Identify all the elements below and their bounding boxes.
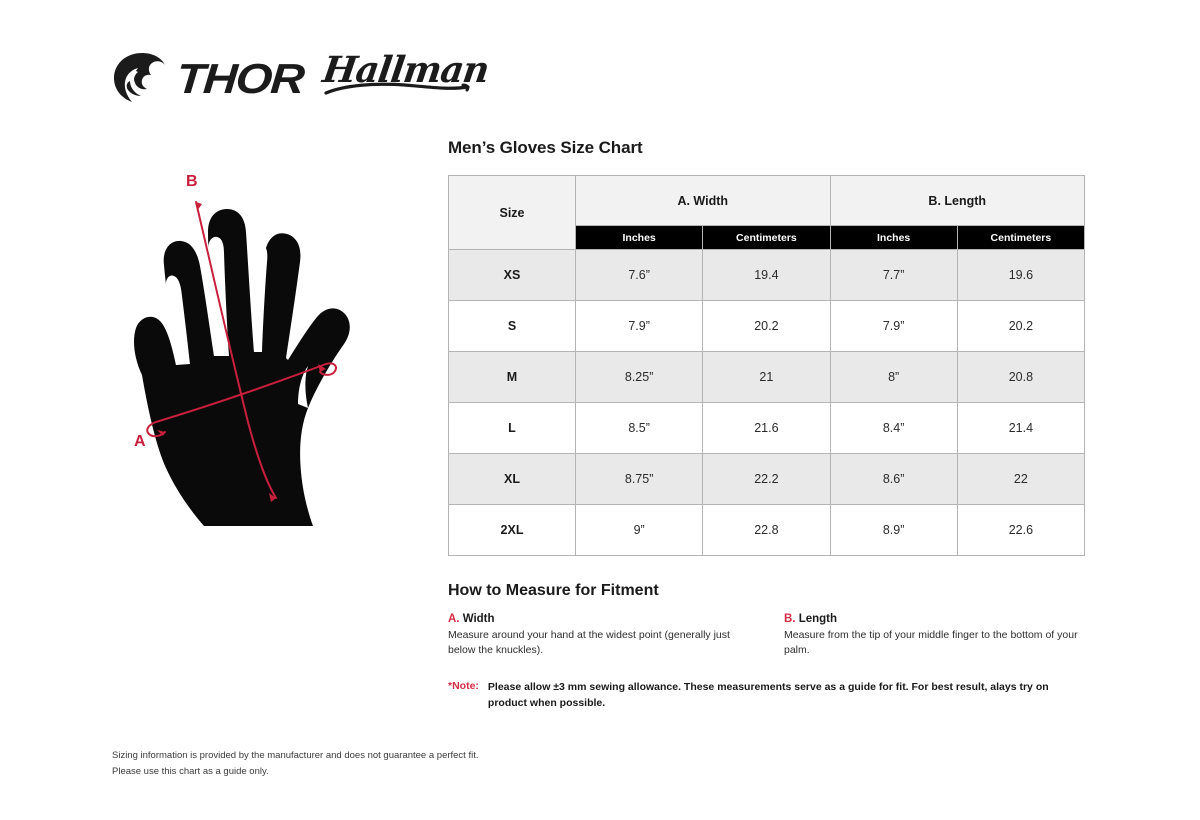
measure-name-length: Length [799,613,837,625]
column-header-size: Size [449,176,576,250]
cell-length-inches: 7.9” [830,301,957,352]
cell-length-inches: 8” [830,352,957,403]
measure-letter-a: A. [448,613,460,625]
measure-item-length: B. Length Measure from the tip of your m… [784,613,1086,658]
thor-wordmark: THOR [170,58,304,100]
brand-logo-bar: THOR Hallman [112,48,494,110]
thor-logo: THOR [112,51,289,107]
cell-width-centimeters: 19.4 [703,250,830,301]
how-to-measure-section: How to Measure for Fitment A. Width Meas… [448,582,1088,658]
column-header-width-centimeters: Centimeters [703,226,830,250]
cell-width-inches: 8.5” [576,403,703,454]
measure-item-heading: B. Length [784,613,1086,625]
measure-item-width: A. Width Measure around your hand at the… [448,613,750,658]
hand-measurement-illustration: B A [112,160,432,550]
cell-size: XS [449,250,576,301]
cell-size: S [449,301,576,352]
label-b: B [186,173,198,190]
size-chart-page: { "brand": { "thor_name": "THOR", "thor_… [0,0,1200,820]
column-header-length-inches: Inches [830,226,957,250]
how-to-measure-title: How to Measure for Fitment [448,582,1088,600]
cell-length-inches: 8.6” [830,454,957,505]
hallman-wordmark: Hallman [320,52,490,88]
table-body: XS 7.6” 19.4 7.7” 19.6 S 7.9” 20.2 7.9” … [449,250,1085,556]
table-row: XS 7.6” 19.4 7.7” 19.6 [449,250,1085,301]
cell-width-centimeters: 21 [703,352,830,403]
table-header: Size A. Width B. Length Inches Centimete… [449,176,1085,250]
cell-length-centimeters: 20.2 [957,301,1084,352]
note-text: Please allow ±3 mm sewing allowance. The… [488,680,1078,712]
cell-width-inches: 9” [576,505,703,556]
column-header-width-inches: Inches [576,226,703,250]
cell-width-inches: 7.6” [576,250,703,301]
table-row: M 8.25” 21 8” 20.8 [449,352,1085,403]
footer-line-1: Sizing information is provided by the ma… [112,748,479,764]
column-group-length: B. Length [830,176,1085,226]
size-chart-table: Size A. Width B. Length Inches Centimete… [448,175,1085,556]
footer-line-2: Please use this chart as a guide only. [112,764,479,780]
measure-name-width: Width [463,613,495,625]
cell-length-centimeters: 21.4 [957,403,1084,454]
cell-width-centimeters: 22.8 [703,505,830,556]
cell-size: L [449,403,576,454]
hallman-logo: Hallman [317,52,494,106]
cell-width-inches: 7.9” [576,301,703,352]
cell-length-centimeters: 20.8 [957,352,1084,403]
label-a: A [134,433,146,450]
main-content: Men’s Gloves Size Chart Size A. Width B.… [448,138,1088,712]
column-group-width: A. Width [576,176,831,226]
cell-size: 2XL [449,505,576,556]
measure-letter-b: B. [784,613,796,625]
footer-disclaimer: Sizing information is provided by the ma… [112,748,479,779]
column-header-length-centimeters: Centimeters [957,226,1084,250]
cell-width-inches: 8.75” [576,454,703,505]
cell-length-inches: 8.9” [830,505,957,556]
cell-width-centimeters: 22.2 [703,454,830,505]
table-row: 2XL 9” 22.8 8.9” 22.6 [449,505,1085,556]
cell-width-centimeters: 20.2 [703,301,830,352]
measure-description-length: Measure from the tip of your middle fing… [784,628,1086,658]
table-row: L 8.5” 21.6 8.4” 21.4 [449,403,1085,454]
cell-size: XL [449,454,576,505]
measure-item-heading: A. Width [448,613,750,625]
cell-length-centimeters: 22.6 [957,505,1084,556]
table-header-row-groups: Size A. Width B. Length [449,176,1085,226]
cell-size: M [449,352,576,403]
cell-length-inches: 8.4” [830,403,957,454]
thor-helmet-icon [112,51,170,107]
note-row: *Note: Please allow ±3 mm sewing allowan… [448,680,1088,712]
cell-length-inches: 7.7” [830,250,957,301]
cell-width-centimeters: 21.6 [703,403,830,454]
page-title: Men’s Gloves Size Chart [448,138,1088,158]
cell-length-centimeters: 19.6 [957,250,1084,301]
table-row: S 7.9” 20.2 7.9” 20.2 [449,301,1085,352]
cell-width-inches: 8.25” [576,352,703,403]
cell-length-centimeters: 22 [957,454,1084,505]
note-label: *Note: [448,680,479,692]
measure-description-width: Measure around your hand at the widest p… [448,628,750,658]
table-row: XL 8.75” 22.2 8.6” 22 [449,454,1085,505]
